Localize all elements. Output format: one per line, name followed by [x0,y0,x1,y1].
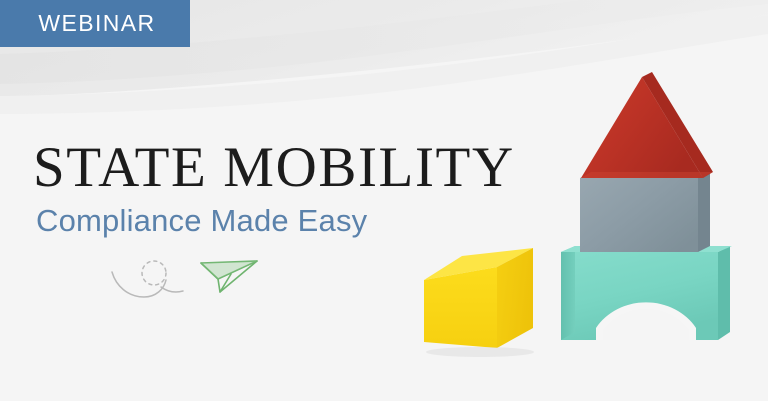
decoration-row [110,252,280,308]
building-blocks-photo [400,60,768,360]
webinar-badge: WEBINAR [0,0,190,47]
mint-arch-block [561,246,732,340]
yellow-cube-block [424,248,534,357]
red-triangle-block [581,72,713,178]
flight-path-icon [110,254,188,304]
paper-plane-icon [198,252,260,298]
webinar-badge-label: WEBINAR [38,12,155,35]
webinar-banner: WEBINAR STATE MOBILITY Compliance Made E… [0,0,768,401]
gray-rectangle-block [580,172,710,252]
